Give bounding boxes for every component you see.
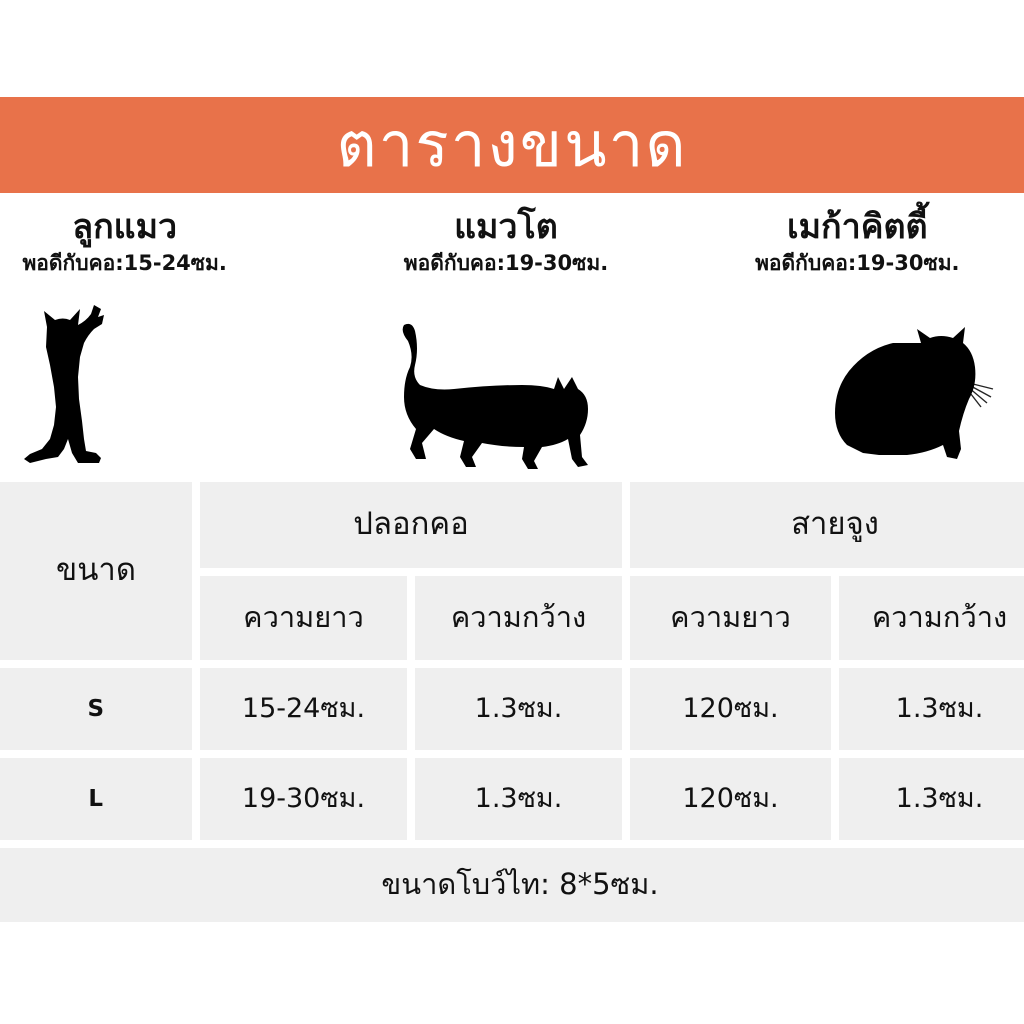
cat-label-mega: เมก้าคิตตี้ xyxy=(787,210,928,246)
page-title: ตารางขนาด xyxy=(336,114,687,176)
table-subheader-collar-length: ความยาว xyxy=(200,576,407,660)
table-row: L xyxy=(0,758,192,840)
table-row: 19-30ซม. xyxy=(200,758,407,840)
cat-fit-adult: พอดีกับคอ:19-30ซม. xyxy=(404,252,608,275)
table-row: 120ซม. xyxy=(630,668,831,750)
table-row: 120ซม. xyxy=(630,758,831,840)
table-row: 15-24ซม. xyxy=(200,668,407,750)
table-row: 1.3ซม. xyxy=(839,758,1024,840)
bowtie-size-note: ขนาดโบว์ไท: 8*5ซม. xyxy=(0,848,1024,922)
table-subheader-leash-width: ความกว้าง xyxy=(839,576,1024,660)
table-row: S xyxy=(0,668,192,750)
table-row: 1.3ซม. xyxy=(415,758,622,840)
size-chart-page: ตารางขนาด ลูกแมว พอดีกับคอ:15-24ซม. แมวโ… xyxy=(0,0,1024,1024)
title-banner: ตารางขนาด xyxy=(0,97,1024,193)
cat-label-kitten: ลูกแมว xyxy=(72,210,177,246)
table-group-header-collar: ปลอกคอ xyxy=(200,482,622,568)
cat-label-adult: แมวโต xyxy=(454,210,558,246)
cat-column-mega: เมก้าคิตตี้ พอดีกับคอ:19-30ซม. xyxy=(683,196,1024,481)
table-row: 1.3ซม. xyxy=(839,668,1024,750)
table-subheader-collar-width: ความกว้าง xyxy=(415,576,622,660)
cat-illustration-row: ลูกแมว พอดีกับคอ:15-24ซม. แมวโต พอดีกับค… xyxy=(0,196,1024,481)
cat-fit-kitten: พอดีกับคอ:15-24ซม. xyxy=(22,252,226,275)
table-group-header-leash: สายจูง xyxy=(630,482,1024,568)
size-table: ขนาด ปลอกคอ สายจูง ความยาว ความกว้าง ควา… xyxy=(0,482,1024,922)
sitting-fluffy-cat-icon xyxy=(623,275,1024,481)
cat-column-kitten: ลูกแมว พอดีกับคอ:15-24ซม. xyxy=(0,196,341,481)
table-header-size: ขนาด xyxy=(0,482,192,660)
cat-fit-mega: พอดีกับคอ:19-30ซม. xyxy=(755,252,959,275)
table-row: 1.3ซม. xyxy=(415,668,622,750)
table-subheader-leash-length: ความยาว xyxy=(630,576,831,660)
